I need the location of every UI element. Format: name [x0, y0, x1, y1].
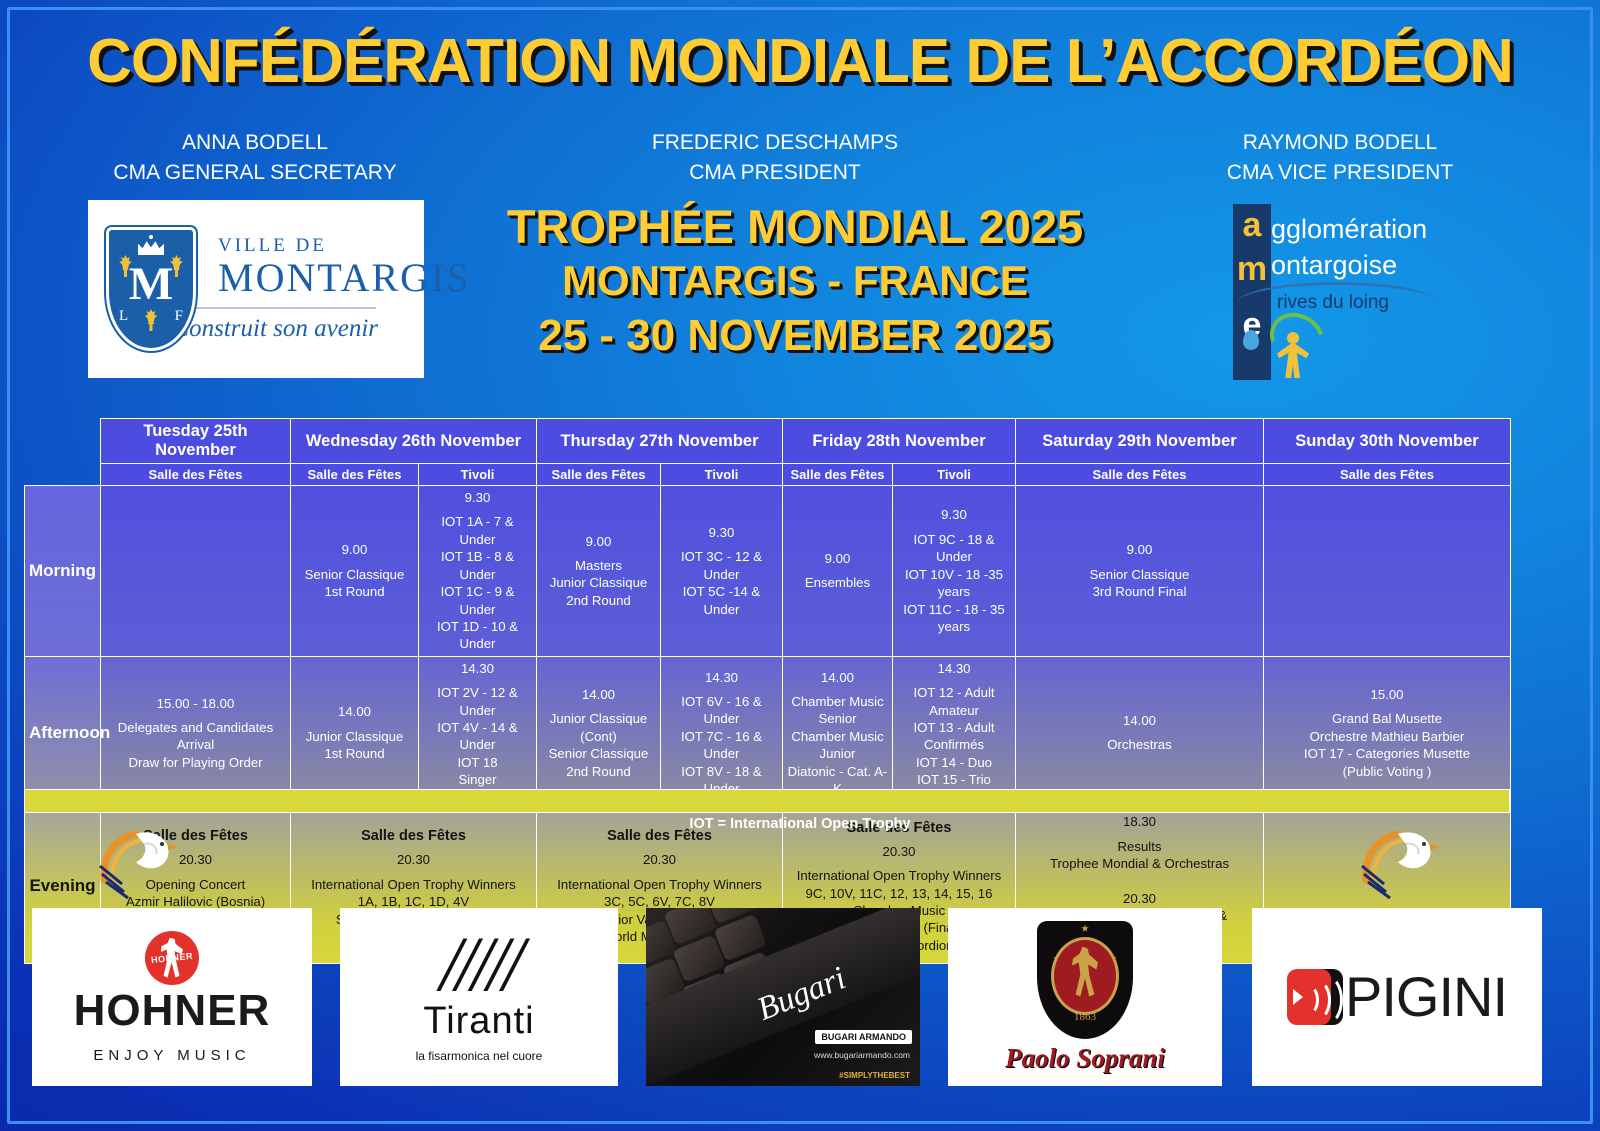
- day-header-tuesday: Tuesday 25th November: [101, 419, 291, 464]
- person-icon: [1271, 308, 1317, 378]
- row-label-afternoon: Afternoon: [25, 656, 101, 809]
- venue-tue-salle: Salle des Fêtes: [101, 464, 291, 486]
- official-role: CMA VICE PRESIDENT: [1180, 158, 1500, 188]
- page-title: CONFÉDÉRATION MONDIALE DE L’ACCORDÉON: [0, 26, 1600, 97]
- day-header-sunday: Sunday 30th November: [1264, 419, 1511, 464]
- cell-line: IOT 5C -14 & Under: [665, 583, 778, 618]
- cell-time: 20.30: [541, 851, 778, 868]
- cell-morning-thu-tivoli: 9.30IOT 3C - 12 & UnderIOT 5C -14 & Unde…: [661, 486, 783, 657]
- ame-word-agglomeration: gglomération: [1271, 214, 1427, 245]
- cell-line: 1st Round: [295, 583, 414, 600]
- cell-line: Chamber Music Senior: [787, 693, 888, 728]
- cell-line: IOT 17 - Categories Musette: [1268, 745, 1506, 762]
- day-header-saturday: Saturday 29th November: [1016, 419, 1264, 464]
- cell-time: 9.00: [295, 541, 414, 558]
- cell-morning-fri-tivoli: 9.30IOT 9C - 18 & UnderIOT 10V - 18 -35 …: [893, 486, 1016, 657]
- event-title-line1: TROPHÉE MONDIAL 2025: [455, 203, 1135, 250]
- cell-line: Draw for Playing Order: [105, 754, 286, 771]
- cell-afternoon-thu-salle: 14.00Junior Classique (Cont)Senior Class…: [537, 656, 661, 809]
- cell-morning-sun: [1264, 486, 1511, 657]
- bugari-badge: BUGARI ARMANDO: [815, 1030, 912, 1044]
- cell-line: IOT 15 - Trio: [897, 771, 1011, 788]
- cell-line: (Public Voting ): [1268, 763, 1506, 780]
- cell-time: 9.00: [1020, 541, 1259, 558]
- cell-line: IOT 1D - 10 & Under: [423, 618, 532, 653]
- official-role: CMA PRESIDENT: [620, 158, 930, 188]
- official-general-secretary: ANNA BODELL CMA GENERAL SECRETARY: [90, 128, 420, 189]
- cell-line: 2nd Round: [541, 763, 656, 780]
- venue-wed-salle: Salle des Fêtes: [291, 464, 419, 486]
- cell-line: Grand Bal Musette: [1268, 710, 1506, 727]
- cell-time: 9.00: [541, 533, 656, 550]
- agglomeration-montargoise-logo: a m e gglomération ontargoise rives du l…: [1225, 200, 1525, 380]
- cell-afternoon-thu-tivoli: 14.30IOT 6V - 16 & UnderIOT 7C - 16 & Un…: [661, 656, 783, 809]
- sponsor-paolo-soprani: 1863 Paolo Soprani: [948, 908, 1222, 1086]
- cell-line: Masters: [541, 557, 656, 574]
- cell-line: IOT 6V - 16 & Under: [665, 693, 778, 728]
- cell-line: Senior Classique: [1020, 566, 1259, 583]
- cell-time: 9.30: [665, 524, 778, 541]
- cell-line: IOT 1B - 8 & Under: [423, 548, 532, 583]
- cell-time: 14.00: [295, 703, 414, 720]
- poster-root: CONFÉDÉRATION MONDIALE DE L’ACCORDÉON AN…: [0, 0, 1600, 1131]
- cell-line: International Open Trophy Winners: [295, 876, 532, 893]
- cell-time: 9.00: [787, 550, 888, 567]
- cell-line: Delegates and Candidates Arrival: [105, 719, 286, 754]
- cell-time: 14.30: [897, 660, 1011, 677]
- event-title: TROPHÉE MONDIAL 2025 MONTARGIS - FRANCE …: [455, 203, 1135, 358]
- sponsor-tiranti: ///// Tiranti la fisarmonica nel cuore: [340, 908, 618, 1086]
- cell-line: 3rd Round Final: [1020, 583, 1259, 600]
- event-title-line2: MONTARGIS - FRANCE: [455, 260, 1135, 302]
- bugari-hashtag: #SIMPLYTHEBEST: [839, 1071, 910, 1080]
- cell-line: IOT 2V - 12 & Under: [423, 684, 532, 719]
- cell-time: 14.00: [1020, 712, 1259, 729]
- cell-line: IOT 11C - 18 - 35 years: [897, 601, 1011, 636]
- shield-letter-m: M: [129, 261, 173, 308]
- cell-line: IOT 14 - Duo: [897, 754, 1011, 771]
- cell-time: 15.00: [1268, 686, 1506, 703]
- cell-line: 2nd Round: [541, 592, 656, 609]
- soprani-year: 1863: [1037, 1011, 1133, 1023]
- venue-sun-salle: Salle des Fêtes: [1264, 464, 1511, 486]
- day-header-wednesday: Wednesday 26th November: [291, 419, 537, 464]
- ame-letter-m: m: [1233, 252, 1271, 286]
- sponsor-pigini: PIGINI: [1252, 908, 1542, 1086]
- day-header-thursday: Thursday 27th November: [537, 419, 783, 464]
- table-header-days: Tuesday 25th November Wednesday 26th Nov…: [25, 419, 1511, 464]
- cell-morning-fri-salle: 9.00Ensembles: [783, 486, 893, 657]
- cell-line: [1020, 872, 1259, 889]
- sponsor-name-hohner: HOHNER: [74, 989, 271, 1033]
- cell-line: IOT 1C - 9 & Under: [423, 583, 532, 618]
- pigini-sound-icon: [1287, 969, 1343, 1025]
- cell-line: IOT 13 - Adult Confirmés: [897, 719, 1011, 754]
- montargis-ville-label: VILLE DE: [218, 235, 471, 257]
- sponsor-bugari: Bugari BUGARI ARMANDO www.bugariarmando.…: [646, 908, 920, 1086]
- sponsor-name-paolo-soprani: Paolo Soprani: [1005, 1043, 1165, 1074]
- cell-time: 9.30: [897, 506, 1011, 523]
- cell-line: IOT 10V - 18 -35 years: [897, 566, 1011, 601]
- paolo-soprani-shield-icon: 1863: [1037, 921, 1133, 1039]
- cell-line: Ensembles: [787, 574, 888, 591]
- venue-wed-tivoli: Tivoli: [419, 464, 537, 486]
- cell-line: International Open Trophy Winners: [541, 876, 778, 893]
- official-name: ANNA BODELL: [90, 128, 420, 158]
- cell-line: International Open Trophy Winners: [787, 867, 1011, 884]
- cell-time: 9.30: [423, 489, 532, 506]
- row-label-morning: Morning: [25, 486, 101, 657]
- officials-row: ANNA BODELL CMA GENERAL SECRETARY FREDER…: [0, 128, 1600, 194]
- day-header-friday: Friday 28th November: [783, 419, 1016, 464]
- cell-afternoon-fri-salle: 14.00Chamber Music SeniorChamber Music J…: [783, 656, 893, 809]
- ame-letter-a: a: [1233, 208, 1271, 242]
- sponsor-name-pigini: PIGINI: [1345, 969, 1507, 1025]
- cell-morning-wed-tivoli: 9.30IOT 1A - 7 & UnderIOT 1B - 8 & Under…: [419, 486, 537, 657]
- venue-sat-salle: Salle des Fêtes: [1016, 464, 1264, 486]
- venue-fri-salle: Salle des Fêtes: [783, 464, 893, 486]
- cell-line: 9C, 10V, 11C, 12, 13, 14, 15, 16: [787, 885, 1011, 902]
- cell-time: 14.30: [423, 660, 532, 677]
- table-row-afternoon: Afternoon 15.00 - 18.00Delegates and Can…: [25, 656, 1511, 809]
- sponsor-name-tiranti: Tiranti: [423, 1000, 534, 1043]
- cell-time: 14.00: [787, 669, 888, 686]
- table-row-morning: Morning 9.00Senior Classique1st Round 9.…: [25, 486, 1511, 657]
- cell-line: 1st Round: [295, 745, 414, 762]
- official-name: FREDERIC DESCHAMPS: [620, 128, 930, 158]
- venue-fri-tivoli: Tivoli: [893, 464, 1016, 486]
- cell-morning-tue: [101, 486, 291, 657]
- cell-line: Orchestre Mathieu Barbier: [1268, 728, 1506, 745]
- cell-line: Senior Classique: [295, 566, 414, 583]
- official-president: FREDERIC DESCHAMPS CMA PRESIDENT: [620, 128, 930, 189]
- cell-line: Junior Classique: [295, 728, 414, 745]
- montargis-shield-icon: M L F: [106, 227, 196, 351]
- cell-time: 14.00: [541, 686, 656, 703]
- cell-afternoon-fri-tivoli: 14.30IOT 12 - Adult AmateurIOT 13 - Adul…: [893, 656, 1016, 809]
- ville-de-montargis-logo: M L F VILLE DE MONTARGIS Construit son a…: [88, 200, 424, 378]
- hohner-badge-icon: HOHNER: [145, 931, 199, 985]
- cell-morning-thu-salle: 9.00MastersJunior Classique2nd Round: [537, 486, 661, 657]
- water-drop-icon: [1243, 330, 1259, 350]
- cell-time: 14.30: [665, 669, 778, 686]
- official-name: RAYMOND BODELL: [1180, 128, 1500, 158]
- cell-line: IOT 4V - 14 & Under: [423, 719, 532, 754]
- sponsor-hohner: HOHNER HOHNER ENJOY MUSIC: [32, 908, 312, 1086]
- cell-time: 15.00 - 18.00: [105, 695, 286, 712]
- cell-line: 20.30: [1020, 890, 1259, 907]
- schedule-table: Tuesday 25th November Wednesday 26th Nov…: [24, 418, 1511, 964]
- sponsor-tagline-hohner: ENJOY MUSIC: [93, 1047, 250, 1064]
- cell-line: IOT 1A - 7 & Under: [423, 513, 532, 548]
- ame-word-montargoise: ontargoise: [1271, 250, 1397, 281]
- corner-cell: [25, 464, 101, 486]
- table-header-venues: Salle des Fêtes Salle des Fêtes Tivoli S…: [25, 464, 1511, 486]
- accordion-dove-icon-right: [1354, 822, 1450, 900]
- cell-line: Senior Classique: [541, 745, 656, 762]
- sponsor-logos-row: HOHNER HOHNER ENJOY MUSIC ///// Tiranti …: [0, 908, 1600, 1088]
- cell-morning-wed-salle: 9.00Senior Classique1st Round: [291, 486, 419, 657]
- cell-line: Orchestras: [1020, 736, 1259, 753]
- cell-morning-sat: 9.00Senior Classique3rd Round Final: [1016, 486, 1264, 657]
- ame-letters: a m e: [1233, 204, 1271, 342]
- cell-time: 20.30: [295, 851, 532, 868]
- cell-line: Junior Classique: [541, 574, 656, 591]
- venue-thu-salle: Salle des Fêtes: [537, 464, 661, 486]
- cell-afternoon-tue: 15.00 - 18.00Delegates and Candidates Ar…: [101, 656, 291, 809]
- hohner-badge-word: HOHNER: [151, 950, 194, 964]
- cell-line: IOT 12 - Adult Amateur: [897, 684, 1011, 719]
- table-bottom-strip: [24, 789, 1510, 813]
- cell-afternoon-sat: 14.00Orchestras: [1016, 656, 1264, 809]
- cell-line: IOT 9C - 18 & Under: [897, 531, 1011, 566]
- cell-afternoon-sun: 15.00Grand Bal MusetteOrchestre Mathieu …: [1264, 656, 1511, 809]
- cell-line: IOT 18: [423, 754, 532, 771]
- shield-letter-f: F: [175, 308, 183, 325]
- event-title-line3: 25 - 30 NOVEMBER 2025: [455, 314, 1135, 358]
- bugari-accordion-photo: Bugari BUGARI ARMANDO www.bugariarmando.…: [646, 908, 920, 1086]
- bugari-url: www.bugariarmando.com: [814, 1050, 910, 1060]
- cell-time: 20.30: [787, 843, 1011, 860]
- cell-line: Junior Classique (Cont): [541, 710, 656, 745]
- cell-line: IOT 3C - 12 & Under: [665, 548, 778, 583]
- cell-afternoon-wed-tivoli: 14.30IOT 2V - 12 & UnderIOT 4V - 14 & Un…: [419, 656, 537, 809]
- cell-line: Chamber Music Junior: [787, 728, 888, 763]
- cell-line: IOT 7C - 16 & Under: [665, 728, 778, 763]
- shield-letter-l: L: [119, 308, 128, 325]
- corner-cell: [25, 419, 101, 464]
- accordion-dove-icon-left: [92, 822, 188, 900]
- sponsor-tagline-tiranti: la fisarmonica nel cuore: [416, 1049, 543, 1063]
- cell-line: Trophee Mondial & Orchestras: [1020, 855, 1259, 872]
- official-vice-president: RAYMOND BODELL CMA VICE PRESIDENT: [1180, 128, 1500, 189]
- venue-thu-tivoli: Tivoli: [661, 464, 783, 486]
- montargis-wordmark: VILLE DE MONTARGIS Construit son avenir: [218, 235, 471, 343]
- cell-afternoon-wed-salle: 14.00Junior Classique1st Round: [291, 656, 419, 809]
- tiranti-mark-icon: /////: [440, 931, 518, 997]
- montargis-name: MONTARGIS: [218, 257, 471, 299]
- official-role: CMA GENERAL SECRETARY: [90, 158, 420, 188]
- cell-line: Results: [1020, 838, 1259, 855]
